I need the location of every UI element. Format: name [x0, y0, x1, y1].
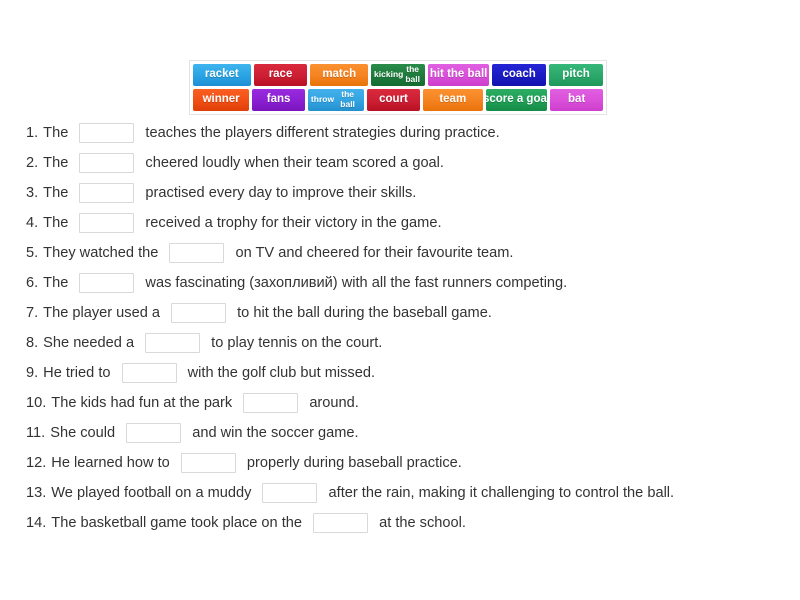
sentence-text-before: The player used a	[43, 305, 164, 321]
sentence-number: 11.	[26, 425, 45, 441]
sentence-text-after: at the school.	[375, 515, 466, 531]
sentence-number: 3.	[26, 185, 38, 201]
sentence-row: 9.He tried to with the golf club but mis…	[26, 358, 782, 388]
answer-blank[interactable]	[145, 333, 200, 353]
word-chip-line: match	[322, 69, 356, 81]
sentence-row: 8.She needed a to play tennis on the cou…	[26, 328, 782, 358]
sentence-row: 6.The was fascinating (захопливий) with …	[26, 268, 782, 298]
answer-blank[interactable]	[262, 483, 317, 503]
word-chip-hit-the-ball[interactable]: hit the ball	[428, 64, 489, 86]
word-bank-row: racketracematchkickingthe ballhit the ba…	[193, 64, 603, 86]
word-chip-line: bat	[568, 94, 585, 106]
sentence-text-before: She could	[50, 425, 119, 441]
answer-blank[interactable]	[169, 243, 224, 263]
word-chip-line: racket	[205, 69, 239, 81]
sentence-text-after: teaches the players different strategies…	[141, 125, 499, 141]
word-chip-line: race	[269, 69, 293, 81]
word-chip-line: pitch	[562, 69, 589, 81]
answer-blank[interactable]	[122, 363, 177, 383]
sentence-text-before: We played football on a muddy	[51, 485, 255, 501]
sentence-number: 9.	[26, 365, 38, 381]
word-chip-fans[interactable]: fans	[252, 89, 305, 111]
sentence-row: 11.She could and win the soccer game.	[26, 418, 782, 448]
answer-blank[interactable]	[79, 213, 134, 233]
sentence-number: 10.	[26, 395, 46, 411]
sentence-text-after: properly during baseball practice.	[243, 455, 462, 471]
word-chip-score-a-goal[interactable]: score a goal	[486, 89, 548, 111]
sentence-text-after: practised every day to improve their ski…	[141, 185, 416, 201]
word-chip-pitch[interactable]: pitch	[549, 64, 603, 86]
sentence-text-before: The	[43, 215, 72, 231]
word-chip-match[interactable]: match	[310, 64, 368, 86]
word-bank: racketracematchkickingthe ballhit the ba…	[189, 60, 607, 115]
answer-blank[interactable]	[126, 423, 181, 443]
word-chip-team[interactable]: team	[423, 89, 483, 111]
word-chip-line: the ball	[403, 65, 422, 84]
answer-blank[interactable]	[79, 273, 134, 293]
sentence-text-after: was fascinating (захопливий) with all th…	[141, 275, 567, 291]
word-chip-line: fans	[267, 94, 291, 106]
sentence-number: 5.	[26, 245, 38, 261]
sentence-list: 1.The teaches the players different stra…	[26, 118, 782, 538]
word-chip-winner[interactable]: winner	[193, 89, 249, 111]
answer-blank[interactable]	[171, 303, 226, 323]
word-chip-line: score a goal	[486, 94, 548, 106]
sentence-number: 13.	[26, 485, 46, 501]
sentence-text-before: They watched the	[43, 245, 162, 261]
sentence-text-before: The	[43, 125, 72, 141]
word-chip-line: winner	[203, 94, 240, 106]
sentence-text-after: and win the soccer game.	[188, 425, 358, 441]
sentence-text-after: to hit the ball during the baseball game…	[233, 305, 492, 321]
word-chip-line: kicking	[374, 70, 403, 80]
sentence-text-before: The	[43, 155, 72, 171]
word-chip-coach[interactable]: coach	[492, 64, 546, 86]
sentence-number: 1.	[26, 125, 38, 141]
sentence-row: 5.They watched the on TV and cheered for…	[26, 238, 782, 268]
word-chip-line: team	[439, 94, 466, 106]
sentence-text-after: on TV and cheered for their favourite te…	[231, 245, 513, 261]
sentence-text-before: He tried to	[43, 365, 114, 381]
sentence-text-before: She needed a	[43, 335, 138, 351]
sentence-number: 4.	[26, 215, 38, 231]
word-chip-line: throw	[311, 95, 334, 105]
sentence-row: 2.The cheered loudly when their team sco…	[26, 148, 782, 178]
sentence-row: 3.The practised every day to improve the…	[26, 178, 782, 208]
word-chip-race[interactable]: race	[254, 64, 308, 86]
sentence-text-before: The kids had fun at the park	[51, 395, 236, 411]
sentence-text-after: received a trophy for their victory in t…	[141, 215, 441, 231]
answer-blank[interactable]	[79, 183, 134, 203]
sentence-text-after: around.	[305, 395, 359, 411]
sentence-text-after: after the rain, making it challenging to…	[324, 485, 674, 501]
sentence-text-after: with the golf club but missed.	[184, 365, 375, 381]
word-chip-line: coach	[503, 69, 536, 81]
answer-blank[interactable]	[313, 513, 368, 533]
sentence-number: 14.	[26, 515, 46, 531]
word-chip-throw-the-ball[interactable]: throwthe ball	[308, 89, 364, 111]
word-chip-bat[interactable]: bat	[550, 89, 603, 111]
answer-blank[interactable]	[79, 153, 134, 173]
word-chip-court[interactable]: court	[367, 89, 420, 111]
worksheet-page: racketracematchkickingthe ballhit the ba…	[0, 0, 800, 600]
sentence-number: 7.	[26, 305, 38, 321]
answer-blank[interactable]	[243, 393, 298, 413]
word-chip-line: hit the ball	[430, 69, 488, 81]
sentence-row: 14.The basketball game took place on the…	[26, 508, 782, 538]
sentence-row: 4.The received a trophy for their victor…	[26, 208, 782, 238]
sentence-text-after: cheered loudly when their team scored a …	[141, 155, 444, 171]
sentence-row: 10.The kids had fun at the park around.	[26, 388, 782, 418]
word-chip-kicking-the-ball[interactable]: kickingthe ball	[371, 64, 425, 86]
word-chip-line: court	[379, 94, 408, 106]
sentence-number: 6.	[26, 275, 38, 291]
sentence-row: 12.He learned how to properly during bas…	[26, 448, 782, 478]
sentence-text-before: The	[43, 185, 72, 201]
answer-blank[interactable]	[79, 123, 134, 143]
sentence-row: 1.The teaches the players different stra…	[26, 118, 782, 148]
answer-blank[interactable]	[181, 453, 236, 473]
sentence-row: 7.The player used a to hit the ball duri…	[26, 298, 782, 328]
sentence-text-after: to play tennis on the court.	[207, 335, 382, 351]
sentence-number: 2.	[26, 155, 38, 171]
word-bank-row: winnerfansthrowthe ballcourtteamscore a …	[193, 89, 603, 111]
sentence-text-before: He learned how to	[51, 455, 174, 471]
sentence-number: 8.	[26, 335, 38, 351]
sentence-row: 13.We played football on a muddy after t…	[26, 478, 782, 508]
word-chip-line: the ball	[334, 90, 361, 109]
sentence-text-before: The basketball game took place on the	[51, 515, 306, 531]
sentence-text-before: The	[43, 275, 72, 291]
word-chip-racket[interactable]: racket	[193, 64, 251, 86]
sentence-number: 12.	[26, 455, 46, 471]
